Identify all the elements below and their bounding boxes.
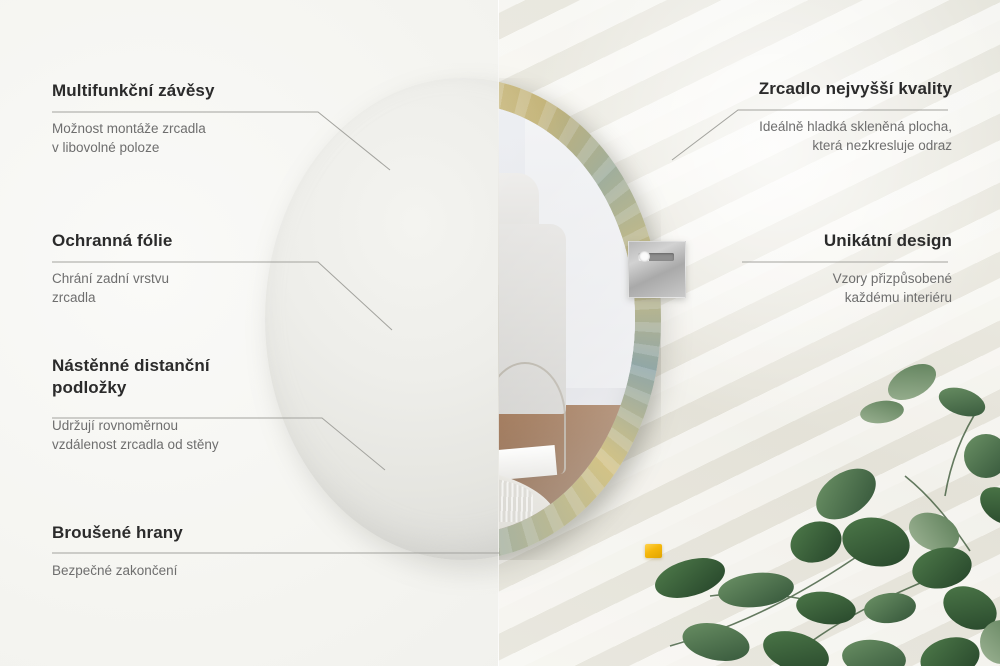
round-mirror <box>265 78 661 560</box>
callout-title: Nástěnné distanční podložky <box>52 355 317 399</box>
callout-title: Ochranná fólie <box>52 230 302 252</box>
callout-title: Zrcadlo nejvyšší kvality <box>682 78 952 100</box>
mirror-front-face <box>498 78 661 560</box>
callout-description: Chrání zadní vrstvu zrcadla <box>52 269 302 308</box>
callout-title: Unikátní design <box>702 230 952 252</box>
callout-title: Broušené hrany <box>52 522 302 544</box>
callout-description: Vzory přizpůsobené každému interiéru <box>702 269 952 308</box>
wall-distance-spacer <box>645 544 662 558</box>
infographic-canvas: Multifunkční závěsy Možnost montáže zrca… <box>0 0 1000 666</box>
callout-unikatni-design: Unikátní design Vzory přizpůsobené každé… <box>702 230 952 308</box>
callout-multifunkcni-zavesy: Multifunkční závěsy Možnost montáže zrca… <box>52 80 302 158</box>
callout-title: Multifunkční závěsy <box>52 80 302 102</box>
reflected-magazine <box>498 445 557 481</box>
callout-brousene-hrany: Broušené hrany Bezpečné zakončení <box>52 522 302 580</box>
callout-nastenne-distancni-podlozky: Nástěnné distanční podložky Udržují rovn… <box>52 355 317 455</box>
callout-ochranna-folie: Ochranná fólie Chrání zadní vrstvu zrcad… <box>52 230 302 308</box>
keyhole-hanger-bracket <box>628 241 686 298</box>
keyhole-slot-icon <box>638 253 674 261</box>
callout-description: Bezpečné zakončení <box>52 561 302 581</box>
mirror-glass-reflection <box>498 104 635 534</box>
mirror-front-clip <box>498 78 661 560</box>
panel-divider <box>498 0 499 666</box>
eucalyptus-foliage <box>650 346 1000 666</box>
callout-zrcadlo-nejvyssi-kvality: Zrcadlo nejvyšší kvality Ideálně hladká … <box>682 78 952 156</box>
callout-description: Udržují rovnoměrnou vzdálenost zrcadla o… <box>52 416 317 455</box>
callout-description: Možnost montáže zrcadla v libovolné polo… <box>52 119 302 158</box>
callout-description: Ideálně hladká skleněná plocha, která ne… <box>682 117 952 156</box>
